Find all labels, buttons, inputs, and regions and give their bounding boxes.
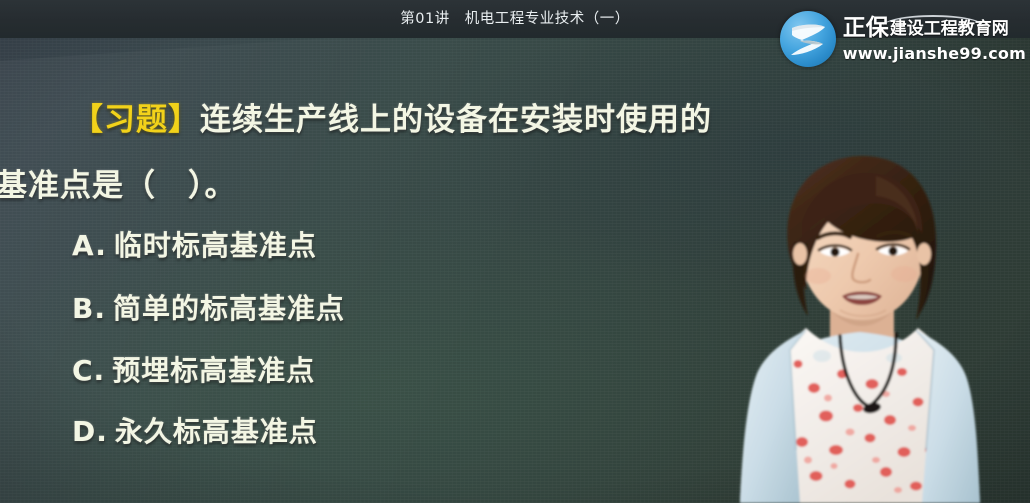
option-b-letter: B. [72, 292, 106, 325]
brand-watermark: 正保 建设工程教育网 www.jianshe99.com [780, 8, 1026, 70]
instructor-figure [690, 150, 1030, 503]
zhengbao-z-swoosh-icon [780, 11, 836, 67]
brand-secondary: 建设工程教育网 [890, 21, 1009, 38]
option-d-text: 永久标高基准点 [115, 415, 318, 448]
brand-text-block: 正保 建设工程教育网 www.jianshe99.com [843, 17, 1026, 62]
option-d-letter: D. [72, 415, 108, 448]
option-a: A.临时标高基准点 [72, 224, 317, 264]
option-c-text: 预埋标高基准点 [112, 354, 315, 387]
question-line-1: 【习题】连续生产线上的设备在安装时使用的 [72, 94, 712, 139]
video-lecture-screen: 【习题】连续生产线上的设备在安装时使用的 基准点是（ ）。 A.临时标高基准点 … [0, 0, 1030, 503]
question-line-2: 基准点是（ ）。 [0, 160, 237, 205]
option-c-letter: C. [72, 354, 105, 387]
brand-url: www.jianshe99.com [843, 46, 1026, 62]
option-a-letter: A. [72, 229, 107, 262]
option-c: C.预埋标高基准点 [72, 349, 315, 389]
option-b: B.简单的标高基准点 [72, 287, 345, 327]
option-a-text: 临时标高基准点 [114, 229, 317, 262]
option-b-text: 简单的标高基准点 [113, 292, 345, 325]
brand-name-row: 正保 建设工程教育网 [843, 17, 1026, 43]
brand-primary: 正保 [843, 17, 889, 40]
option-d: D.永久标高基准点 [72, 410, 318, 450]
question-tag: 【习题】 [72, 102, 200, 138]
question-line-1-text: 连续生产线上的设备在安装时使用的 [200, 102, 712, 138]
